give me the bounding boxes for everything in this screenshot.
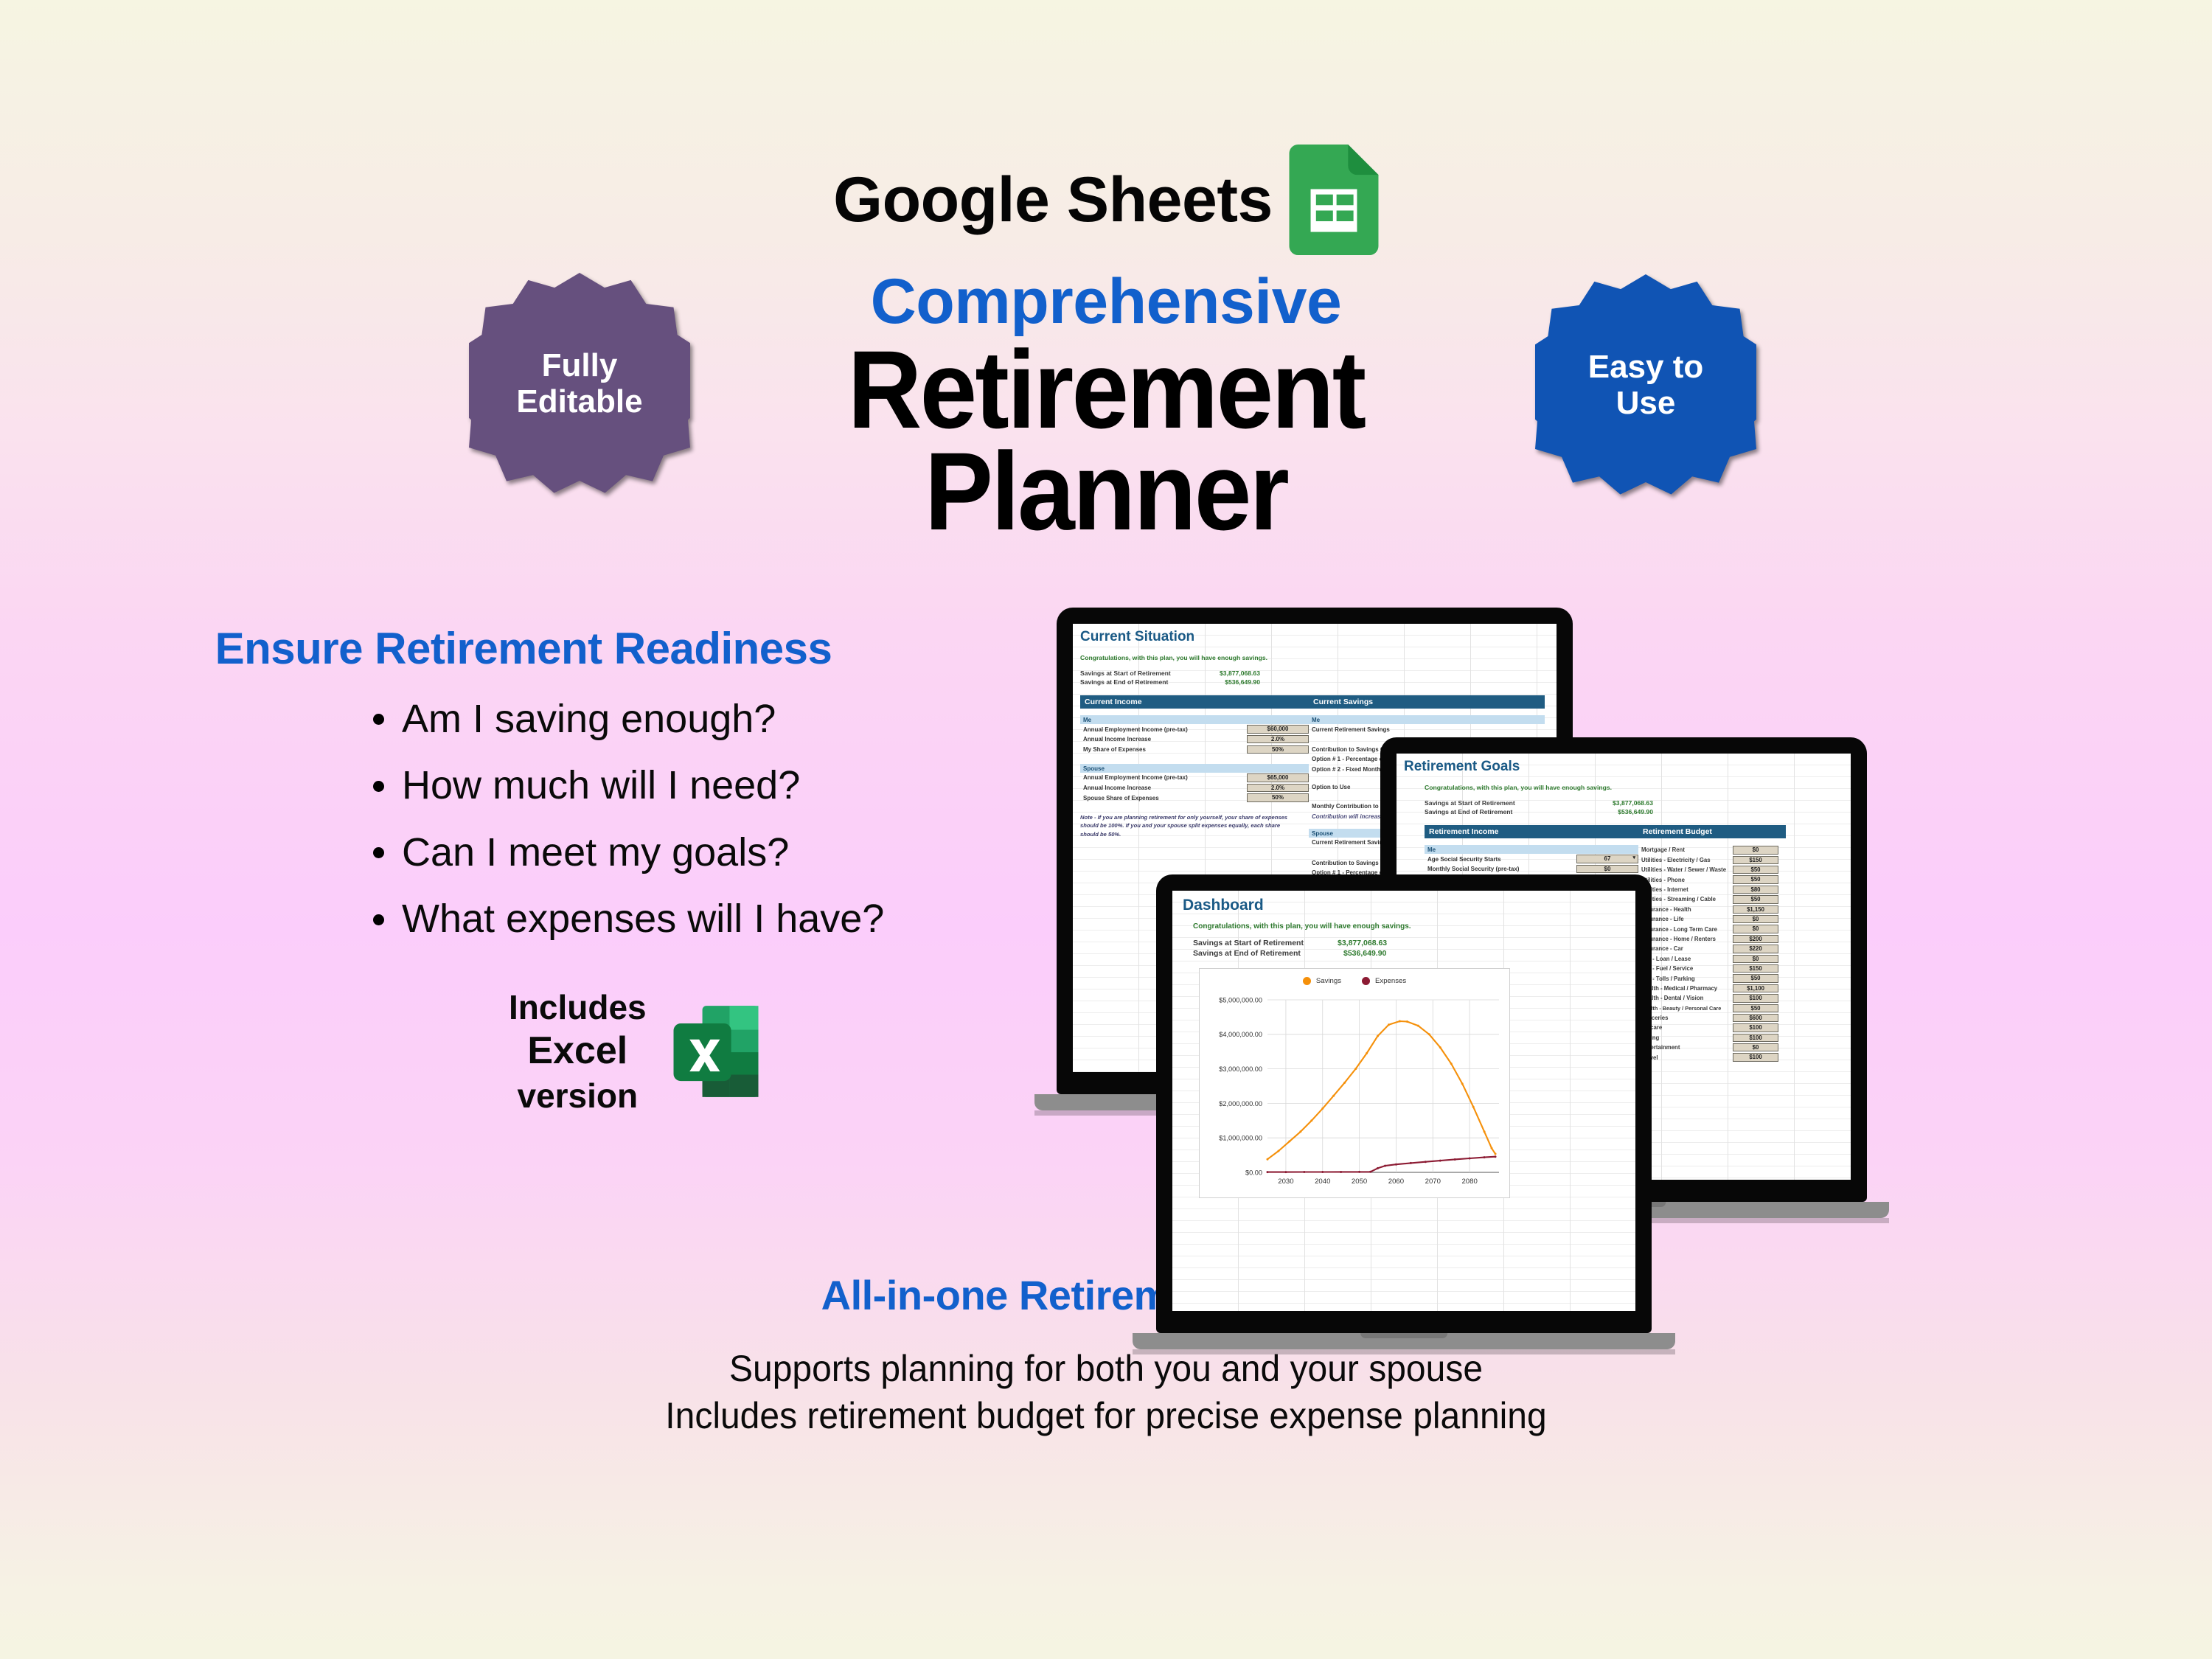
summary-row: Savings at End of Retirement $536,649.90 — [1183, 949, 1635, 958]
laptop-base — [1133, 1333, 1675, 1349]
svg-text:$3,000,000.00: $3,000,000.00 — [1219, 1065, 1262, 1073]
input-cell[interactable]: 50% — [1247, 745, 1309, 754]
svg-text:2070: 2070 — [1425, 1178, 1441, 1186]
google-sheets-icon — [1289, 145, 1379, 255]
group-label-spouse: Spouse — [1080, 764, 1309, 773]
chart-legend: Savings Expenses — [1200, 969, 1509, 985]
svg-text:2080: 2080 — [1461, 1178, 1477, 1186]
section-header-current-savings: Current Savings — [1309, 695, 1545, 709]
section-heading: Ensure Retirement Readiness — [0, 625, 1047, 672]
bullet-icon — [373, 914, 384, 925]
input-cell[interactable]: $100 — [1733, 1034, 1778, 1042]
section-header-current-income: Current Income — [1080, 695, 1309, 709]
laptop-base-shadow — [1133, 1349, 1675, 1354]
table-row: Spouse Share of Expenses 50% — [1080, 793, 1309, 803]
svg-text:$4,000,000.00: $4,000,000.00 — [1219, 1031, 1262, 1038]
summary-row: Savings at Start of Retirement $3,877,06… — [1080, 669, 1557, 677]
badge-fully-editable-label: FullyEditable — [516, 347, 642, 420]
eyebrow-text: Comprehensive — [0, 267, 2212, 337]
list-item: What expenses will I have? — [404, 897, 1047, 941]
group-label-me: Me — [1309, 715, 1545, 724]
page-title-line1: Retirement — [77, 338, 2135, 440]
input-cell[interactable]: $50 — [1733, 895, 1778, 903]
input-cell[interactable]: $50 — [1733, 875, 1778, 883]
input-cell[interactable]: $50 — [1733, 866, 1778, 874]
bullet-icon — [373, 847, 384, 858]
summary-row: Savings at End of Retirement $536,649.90 — [1080, 678, 1557, 686]
input-cell[interactable]: $0 — [1733, 925, 1778, 933]
laptop-dashboard: Dashboard Congratulations, with this pla… — [1156, 874, 1675, 1354]
page-title: Retirement Planner — [77, 338, 2135, 542]
footer-subtext: Supports planning for both you and your … — [44, 1345, 2168, 1439]
badge-fully-editable: FullyEditable — [469, 273, 690, 494]
question-list: Am I saving enough? How much will I need… — [0, 697, 1047, 942]
chart-plot: $0.00$1,000,000.00$2,000,000.00$3,000,00… — [1200, 994, 1511, 1197]
legend-swatch-savings — [1303, 977, 1311, 985]
table-row: Current Retirement Savings — [1309, 724, 1545, 734]
sheet-title: Retirement Goals — [1404, 759, 1851, 775]
input-cell[interactable]: $80 — [1733, 886, 1778, 894]
savings-expenses-chart[interactable]: Savings Expenses $0.00$1,000,000.00$2,00… — [1199, 968, 1510, 1198]
section-header-retirement-budget: Retirement Budget — [1638, 825, 1786, 838]
input-cell[interactable]: 2.0% — [1247, 784, 1309, 793]
page-title-line2: Planner — [77, 440, 2135, 542]
input-cell[interactable]: $50 — [1733, 974, 1778, 982]
svg-text:$5,000,000.00: $5,000,000.00 — [1219, 996, 1262, 1004]
input-cell[interactable]: $150 — [1733, 964, 1778, 973]
legend-swatch-expenses — [1362, 977, 1370, 985]
table-row: Utilities - Water / Sewer / Waste$50 — [1638, 865, 1786, 874]
value-proposition-block: Ensure Retirement Readiness Am I saving … — [0, 625, 1047, 964]
excel-version-block: Includes Excel version — [509, 987, 760, 1116]
platform-label: Google Sheets — [833, 168, 1273, 232]
header: Google Sheets Comprehensive Retirement P… — [0, 145, 2212, 542]
section-header-retirement-income: Retirement Income — [1425, 825, 1638, 838]
group-label-me: Me — [1080, 715, 1309, 724]
input-cell[interactable]: $65,000 — [1247, 773, 1309, 782]
footer-block: All-in-one Retirement Planner Supports p… — [0, 1273, 2212, 1439]
table-row: Mortgage / Rent$0 — [1638, 845, 1786, 855]
group-label-me: Me — [1425, 845, 1638, 854]
table-row: Annual Employment Income (pre-tax) $65,0… — [1080, 773, 1309, 783]
input-cell[interactable]: $0 — [1733, 955, 1778, 963]
input-cell[interactable]: $0 — [1733, 1043, 1778, 1051]
spreadsheet-dashboard[interactable]: Dashboard Congratulations, with this pla… — [1172, 891, 1635, 1311]
sheet-title: Dashboard — [1183, 897, 1635, 914]
input-cell[interactable]: $60,000 — [1247, 725, 1309, 734]
dropdown-cell-age-social-security[interactable]: 67▾ — [1576, 855, 1638, 863]
table-row: Annual Employment Income (pre-tax) $60,0… — [1080, 724, 1309, 734]
legend-item-expenses: Expenses — [1362, 977, 1406, 985]
excel-icon — [672, 1004, 760, 1099]
congratulations-text: Congratulations, with this plan, you wil… — [1183, 922, 1635, 931]
sheet-title: Current Situation — [1080, 630, 1557, 645]
input-cell[interactable]: $100 — [1733, 994, 1778, 1002]
table-row: Age Social Security Starts 67▾ — [1425, 854, 1638, 864]
congratulations-text: Congratulations, with this plan, you wil… — [1404, 784, 1851, 791]
svg-text:$2,000,000.00: $2,000,000.00 — [1219, 1100, 1262, 1107]
input-cell[interactable]: $200 — [1733, 935, 1778, 943]
input-cell[interactable]: $1,100 — [1733, 984, 1778, 992]
summary-row: Savings at Start of Retirement $3,877,06… — [1183, 939, 1635, 947]
laptop-lid: Dashboard Congratulations, with this pla… — [1156, 874, 1652, 1333]
input-cell[interactable]: $0 — [1576, 865, 1638, 874]
bullet-icon — [373, 781, 384, 792]
excel-version-label: Includes Excel version — [509, 987, 647, 1116]
congratulations-text: Congratulations, with this plan, you wil… — [1080, 654, 1557, 661]
summary-row: Savings at End of Retirement $536,649.90 — [1404, 808, 1851, 815]
input-cell[interactable]: $220 — [1733, 945, 1778, 953]
list-item: Am I saving enough? — [404, 697, 1047, 741]
input-cell[interactable]: $100 — [1733, 1023, 1778, 1032]
bullet-icon — [373, 714, 384, 725]
table-row: Annual Income Increase 2.0% — [1080, 783, 1309, 793]
input-cell[interactable]: $600 — [1733, 1014, 1778, 1022]
laptop-screen: Dashboard Congratulations, with this pla… — [1172, 891, 1635, 1311]
footer-headline: All-in-one Retirement Planner — [0, 1273, 2212, 1318]
platform-row: Google Sheets — [0, 145, 2212, 255]
input-cell[interactable]: $50 — [1733, 1004, 1778, 1012]
table-row: Annual Income Increase 2.0% — [1080, 734, 1309, 745]
svg-text:$0.00: $0.00 — [1245, 1169, 1262, 1176]
input-cell[interactable]: 50% — [1247, 793, 1309, 802]
table-row: My Share of Expenses 50% — [1080, 744, 1309, 754]
table-row: Utilities - Electricity / Gas$150 — [1638, 855, 1786, 865]
svg-text:2030: 2030 — [1278, 1178, 1293, 1186]
badge-easy-to-use-label: Easy toUse — [1588, 349, 1704, 422]
svg-text:$1,000,000.00: $1,000,000.00 — [1219, 1135, 1262, 1142]
badge-easy-to-use: Easy toUse — [1535, 274, 1756, 495]
table-row: Monthly Social Security (pre-tax) $0 — [1425, 864, 1638, 874]
input-cell[interactable]: $150 — [1733, 856, 1778, 864]
chevron-down-icon: ▾ — [1632, 855, 1635, 862]
list-item: Can I meet my goals? — [404, 830, 1047, 874]
legend-item-savings: Savings — [1303, 977, 1341, 985]
input-cell[interactable]: $0 — [1733, 915, 1778, 923]
input-cell[interactable]: $100 — [1733, 1053, 1778, 1061]
svg-text:2040: 2040 — [1315, 1178, 1330, 1186]
summary-row: Savings at Start of Retirement $3,877,06… — [1404, 799, 1851, 807]
svg-text:2060: 2060 — [1388, 1178, 1404, 1186]
input-cell[interactable]: 2.0% — [1247, 735, 1309, 744]
svg-text:2050: 2050 — [1352, 1178, 1367, 1186]
input-cell[interactable]: $1,150 — [1733, 905, 1778, 914]
note-text: Note - If you are planning retirement fo… — [1080, 813, 1295, 839]
input-cell[interactable]: $0 — [1733, 846, 1778, 854]
list-item: How much will I need? — [404, 763, 1047, 807]
